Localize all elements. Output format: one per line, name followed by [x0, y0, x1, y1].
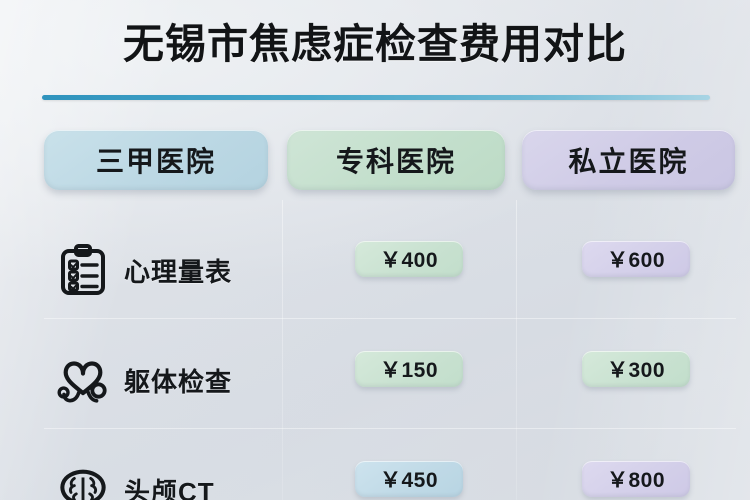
table-row: 心理量表 ￥400 ￥600	[0, 215, 750, 325]
row-label: 躯体检查	[124, 362, 232, 399]
title-underline-divider	[42, 95, 710, 100]
row-label-group: 躯体检查	[56, 325, 232, 435]
column-header-tertiary-hospital[interactable]: 三甲医院	[44, 130, 268, 190]
infographic-poster: 无锡市焦虑症检查费用对比 三甲医院 专科医院 私立医院	[0, 0, 750, 500]
price-cell-private[interactable]: ￥600	[582, 241, 690, 277]
price-cell-specialty[interactable]: ￥150	[355, 351, 463, 387]
row-label: 头颅CT	[124, 472, 215, 500]
row-label: 心理量表	[124, 252, 232, 289]
page-title: 无锡市焦虑症检查费用对比	[123, 22, 627, 68]
column-header-label: 专科医院	[336, 140, 456, 180]
column-header-private-hospital[interactable]: 私立医院	[522, 130, 735, 190]
row-label-group: 心理量表	[56, 215, 232, 325]
price-cell-specialty[interactable]: ￥400	[355, 241, 463, 277]
column-header-label: 私立医院	[568, 140, 688, 180]
column-header-label: 三甲医院	[96, 140, 216, 180]
price-cell-private[interactable]: ￥300	[582, 351, 690, 387]
clipboard-checklist-icon	[56, 243, 110, 297]
brain-icon	[56, 463, 110, 500]
heart-stethoscope-icon	[56, 353, 110, 407]
page-title-wrap: 无锡市焦虑症检查费用对比	[0, 22, 750, 68]
price-cell-specialty[interactable]: ￥450	[355, 461, 463, 497]
table-row: 头颅CT ￥450 ￥800	[0, 435, 750, 500]
table-row: 躯体检查 ￥150 ￥300	[0, 325, 750, 435]
row-label-group: 头颅CT	[56, 435, 215, 500]
price-cell-private[interactable]: ￥800	[582, 461, 690, 497]
column-header-specialty-hospital[interactable]: 专科医院	[287, 130, 505, 190]
